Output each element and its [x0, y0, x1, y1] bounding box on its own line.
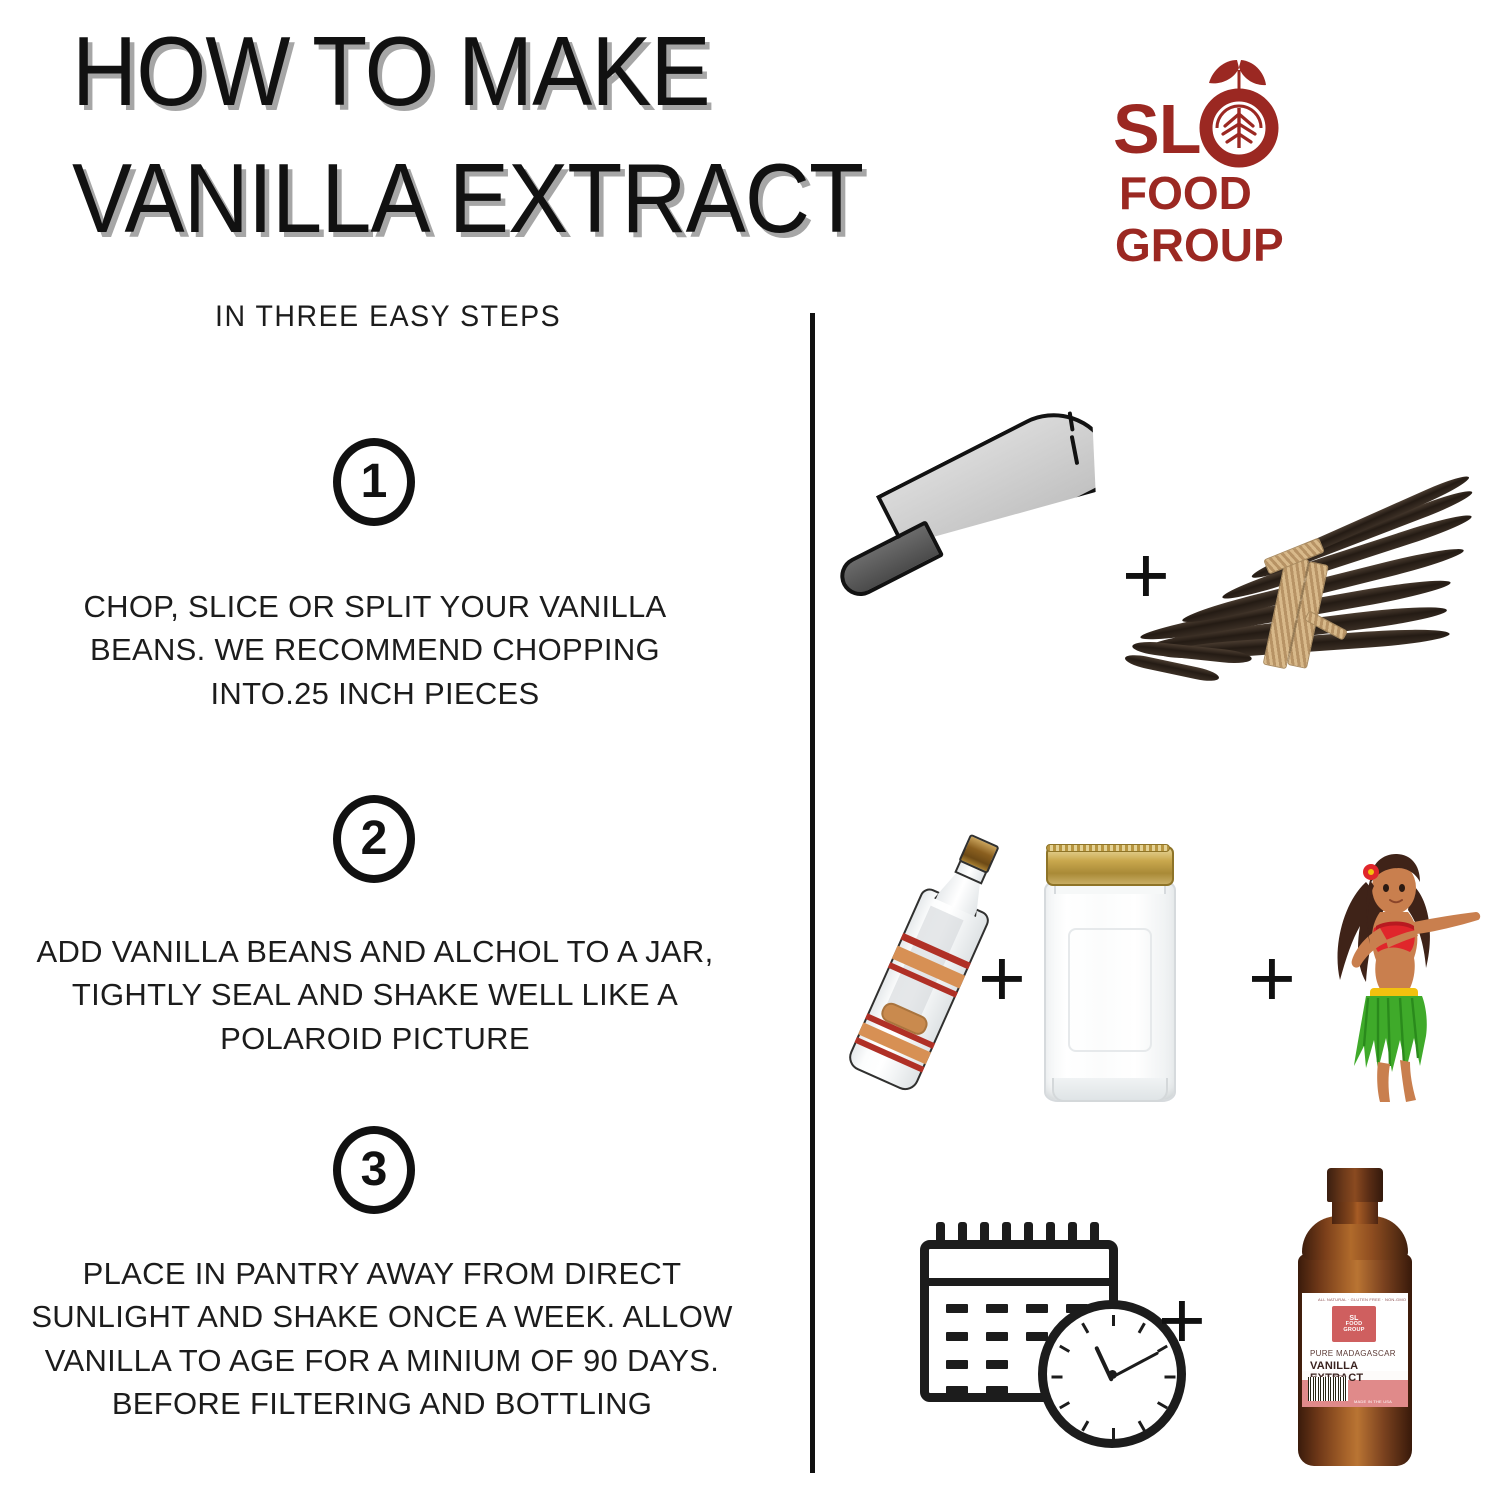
knife-handle: [833, 520, 944, 603]
jar-base: [1052, 1078, 1168, 1102]
clock-tick: [1112, 1315, 1115, 1326]
label-tagline: ALL NATURAL · GLUTEN FREE · NON-GMO: [1318, 1297, 1406, 1302]
label-product-line: PURE MADAGASCAR: [1310, 1349, 1396, 1358]
logo-text-food: FOOD: [1119, 170, 1252, 216]
label-brand-group: GROUP: [1343, 1328, 1364, 1334]
calendar-date-mark: [986, 1304, 1008, 1313]
step-3-number: 3: [361, 1146, 388, 1194]
clock-tick: [1052, 1376, 1063, 1379]
plus-sign-4: +: [1158, 1280, 1206, 1362]
step-2-number: 2: [361, 815, 388, 863]
calendar-date-mark: [946, 1360, 968, 1369]
bottle-cap: [1327, 1168, 1383, 1202]
clock-tick: [1157, 1401, 1168, 1409]
vanilla-bean-bundle-icon: [1118, 470, 1488, 720]
step-1-badge: 1: [333, 438, 415, 526]
plus-sign-3: +: [1248, 938, 1296, 1020]
plus-sign-2: +: [978, 938, 1026, 1020]
label-barcode: [1308, 1377, 1348, 1401]
page-title: HOW TO MAKE VANILLA EXTRACT: [72, 8, 972, 263]
bottle-label: ALL NATURAL · GLUTEN FREE · NON-GMO SL F…: [1302, 1293, 1408, 1407]
clock-tick: [1112, 1428, 1115, 1439]
logo-text-group: GROUP: [1115, 222, 1284, 268]
clock-center-pin: [1108, 1370, 1117, 1379]
clock-tick: [1081, 1420, 1089, 1431]
calendar-date-mark: [1026, 1304, 1048, 1313]
mason-jar-icon: [1038, 840, 1178, 1110]
subtitle: IN THREE EASY STEPS: [215, 300, 561, 334]
jar-lid-rim: [1046, 844, 1170, 852]
brand-logo: SL FOOD GROUP: [1113, 52, 1303, 282]
calendar-date-mark: [946, 1304, 968, 1313]
calendar-date-mark: [986, 1386, 1008, 1395]
calendar-date-mark: [986, 1332, 1008, 1341]
label-brand-box: SL FOOD GROUP: [1332, 1306, 1376, 1342]
calendar-date-mark: [946, 1332, 968, 1341]
hula-dancer-illustration: [1308, 840, 1488, 1110]
step-3-badge: 3: [333, 1126, 415, 1214]
jar-emboss: [1068, 928, 1152, 1052]
step-3-text: PLACE IN PANTRY AWAY FROM DIRECT SUNLIGH…: [2, 1252, 762, 1426]
vertical-divider: [810, 313, 815, 1473]
clock-tick: [1059, 1345, 1070, 1353]
hula-dancer-icon: [1308, 840, 1488, 1110]
clock-tick: [1138, 1420, 1146, 1431]
chef-knife-icon: [813, 387, 1148, 644]
label-footer: MADE IN THE USA: [1354, 1399, 1392, 1404]
jar-lid: [1046, 846, 1174, 886]
vanilla-extract-bottle-icon: ALL NATURAL · GLUTEN FREE · NON-GMO SL F…: [1282, 1168, 1428, 1468]
step-2-text: ADD VANILLA BEANS AND ALCHOL TO A JAR, T…: [10, 930, 740, 1060]
calendar-date-mark: [946, 1386, 968, 1395]
calendar-header-rule: [920, 1278, 1118, 1286]
step-2-badge: 2: [333, 795, 415, 883]
clock-tick: [1081, 1323, 1089, 1334]
clock-tick: [1138, 1323, 1146, 1334]
calendar-clock-icon: [920, 1222, 1190, 1452]
calendar-date-mark: [1026, 1332, 1048, 1341]
title-line-1: HOW TO MAKE: [72, 8, 900, 135]
calendar-date-mark: [986, 1360, 1008, 1369]
clock-tick: [1059, 1401, 1070, 1409]
title-line-2: VANILLA EXTRACT: [72, 135, 900, 262]
clock-tick: [1165, 1376, 1176, 1379]
step-1-number: 1: [361, 458, 388, 506]
logo-text-slo: SL: [1113, 94, 1237, 164]
clock-minute-hand: [1111, 1351, 1158, 1378]
step-1-text: CHOP, SLICE OR SPLIT YOUR VANILLA BEANS.…: [30, 585, 720, 715]
infographic-page: HOW TO MAKE VANILLA EXTRACT IN THREE EAS…: [0, 0, 1500, 1500]
